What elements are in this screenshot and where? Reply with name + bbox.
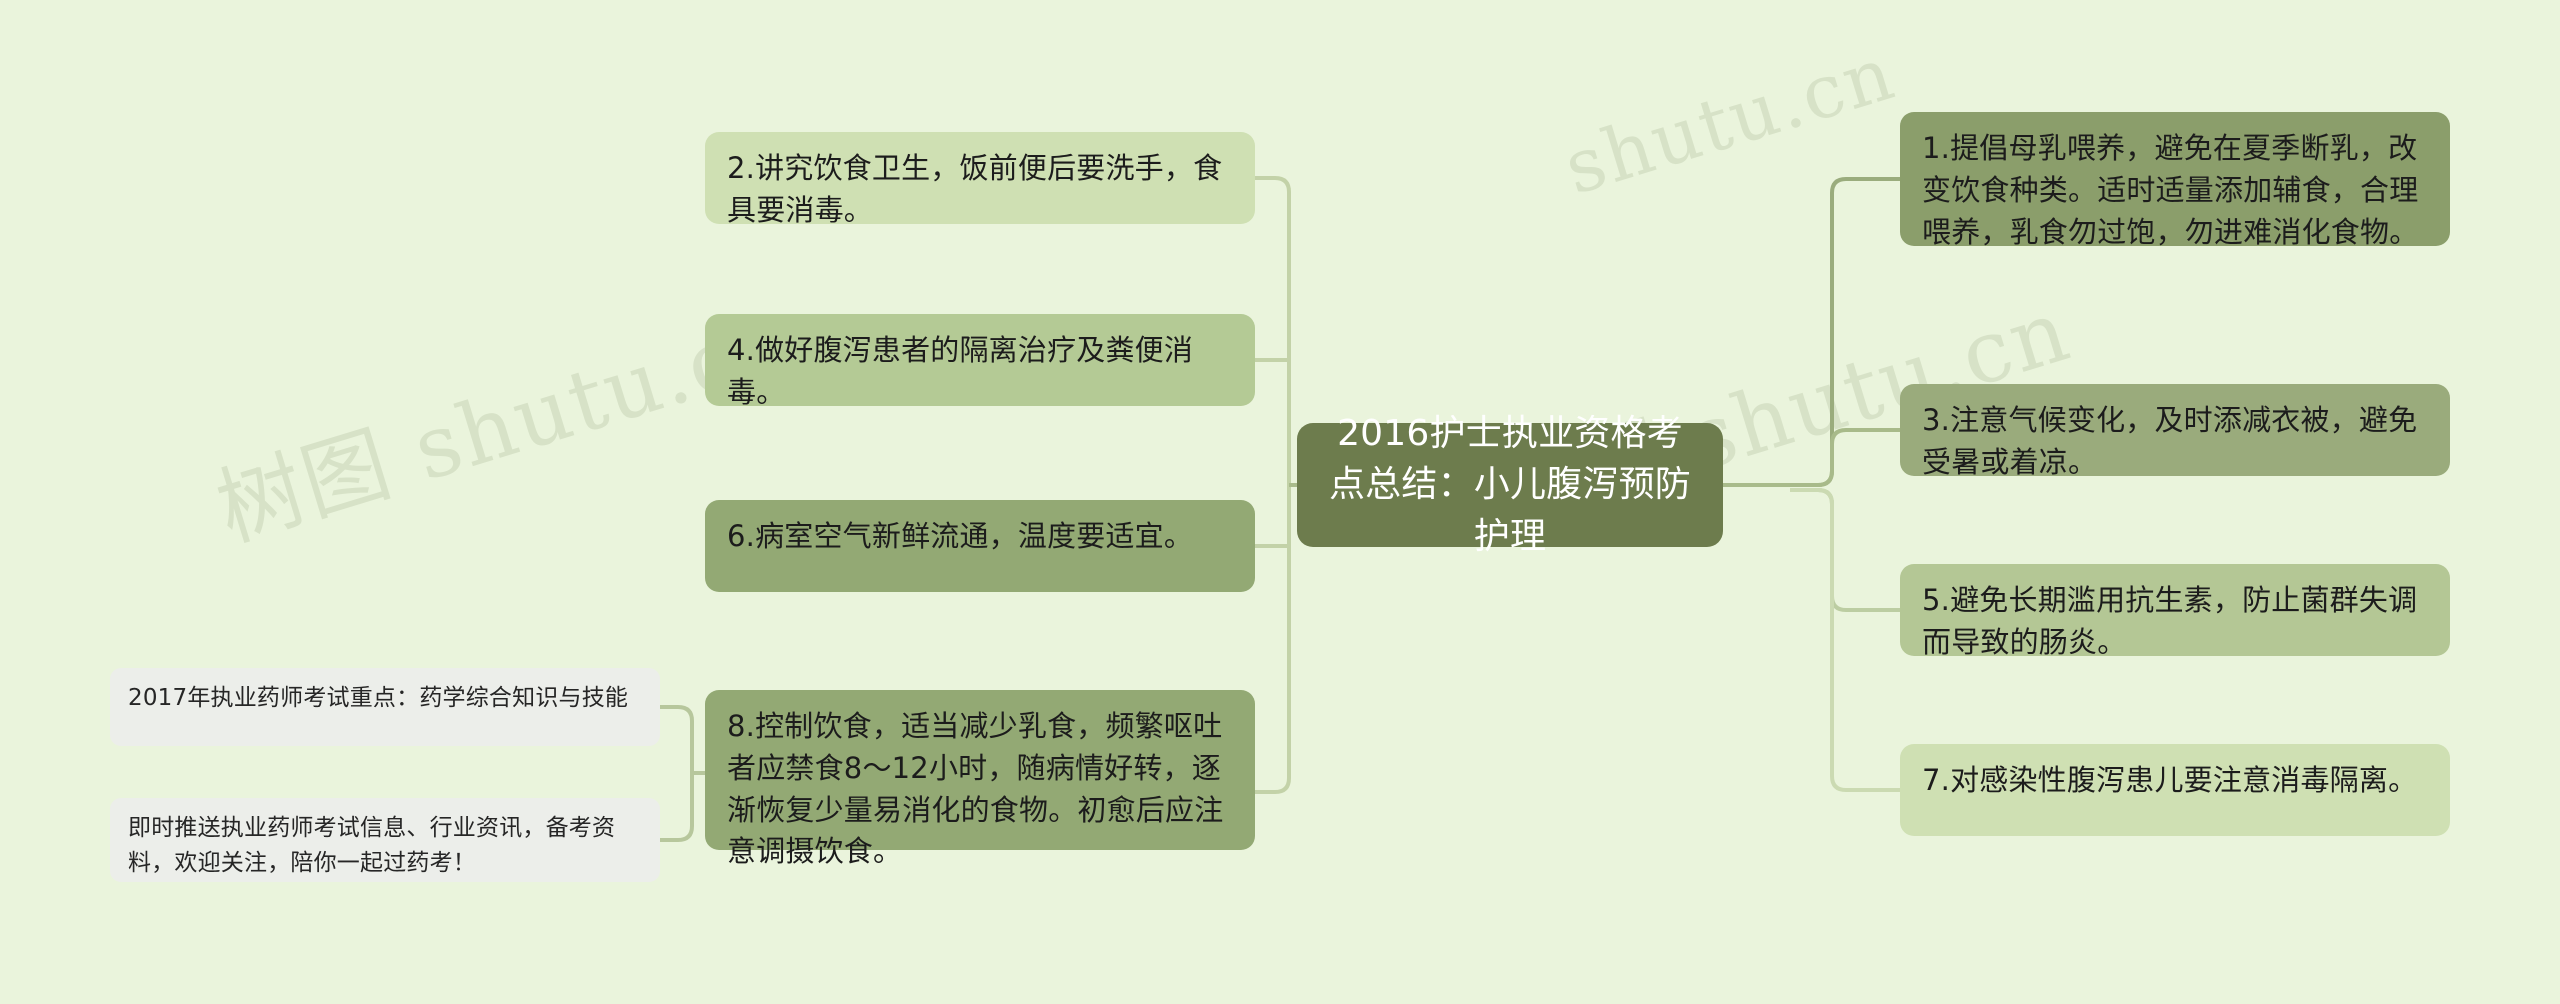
side-note-exam-focus-text: 2017年执业药师考试重点：药学综合知识与技能 <box>128 685 628 711</box>
branch-node-8[interactable]: 8.控制饮食，适当减少乳食，频繁呕吐者应禁食8～12小时，随病情好转，逐渐恢复少… <box>705 690 1255 850</box>
branch-node-4[interactable]: 4.做好腹泻患者的隔离治疗及粪便消毒。 <box>705 314 1255 406</box>
branch-node-8-text: 8.控制饮食，适当减少乳食，频繁呕吐者应禁食8～12小时，随病情好转，逐渐恢复少… <box>727 709 1223 868</box>
side-note-subscribe[interactable]: 即时推送执业药师考试信息、行业资讯，备考资料，欢迎关注，陪你一起过药考！ <box>110 798 660 882</box>
branch-node-2-text: 2.讲究饮食卫生，饭前便后要洗手，食具要消毒。 <box>727 151 1222 227</box>
branch-node-3[interactable]: 3.注意气候变化，及时添减衣被，避免受暑或着凉。 <box>1900 384 2450 476</box>
branch-node-5-text: 5.避免长期滥用抗生素，防止菌群失调而导致的肠炎。 <box>1922 583 2417 659</box>
branch-node-7[interactable]: 7.对感染性腹泻患儿要注意消毒隔离。 <box>1900 744 2450 836</box>
branch-node-7-text: 7.对感染性腹泻患儿要注意消毒隔离。 <box>1922 763 2417 797</box>
branch-node-3-text: 3.注意气候变化，及时添减衣被，避免受暑或着凉。 <box>1922 403 2417 479</box>
watermark: shutu.cn <box>1555 30 1905 211</box>
central-topic-text: 2016护士执业资格考点总结：小儿腹泻预防护理 <box>1323 408 1697 561</box>
branch-node-1[interactable]: 1.提倡母乳喂养，避免在夏季断乳，改变饮食种类。适时适量添加辅食，合理喂养，乳食… <box>1900 112 2450 246</box>
mindmap-canvas: 树图 shutu.cn 树图 shutu.cn shutu.cn <box>0 0 2560 1004</box>
branch-node-6[interactable]: 6.病室空气新鲜流通，温度要适宜。 <box>705 500 1255 592</box>
branch-node-6-text: 6.病室空气新鲜流通，温度要适宜。 <box>727 519 1193 553</box>
central-topic-node[interactable]: 2016护士执业资格考点总结：小儿腹泻预防护理 <box>1297 423 1723 547</box>
branch-node-2[interactable]: 2.讲究饮食卫生，饭前便后要洗手，食具要消毒。 <box>705 132 1255 224</box>
branch-node-1-text: 1.提倡母乳喂养，避免在夏季断乳，改变饮食种类。适时适量添加辅食，合理喂养，乳食… <box>1922 131 2418 249</box>
side-note-subscribe-text: 即时推送执业药师考试信息、行业资讯，备考资料，欢迎关注，陪你一起过药考！ <box>128 815 615 876</box>
branch-node-5[interactable]: 5.避免长期滥用抗生素，防止菌群失调而导致的肠炎。 <box>1900 564 2450 656</box>
side-note-exam-focus[interactable]: 2017年执业药师考试重点：药学综合知识与技能 <box>110 668 660 746</box>
branch-node-4-text: 4.做好腹泻患者的隔离治疗及粪便消毒。 <box>727 333 1193 409</box>
